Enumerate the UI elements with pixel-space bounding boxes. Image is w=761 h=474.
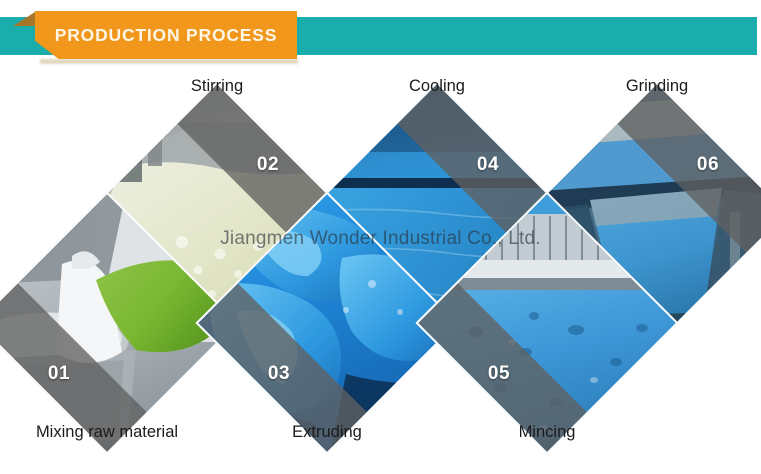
page-title: PRODUCTION PROCESS xyxy=(35,11,297,59)
step-label-03: Extruding xyxy=(237,423,417,442)
step-number-02: 02 xyxy=(257,154,279,176)
production-process-infographic: PRODUCTION PROCESS xyxy=(0,0,761,474)
ribbon-shadow xyxy=(40,59,298,64)
ribbon-tail xyxy=(13,12,35,26)
step-number-05: 05 xyxy=(488,363,510,385)
step-label-01: Mixing raw material xyxy=(17,423,197,442)
header-banner: PRODUCTION PROCESS xyxy=(0,0,761,68)
step-label-02: Stirring xyxy=(127,77,307,96)
step-label-06: Grinding xyxy=(567,77,747,96)
step-label-05: Mincing xyxy=(457,423,637,442)
step-number-01: 01 xyxy=(48,363,70,385)
step-label-04: Cooling xyxy=(347,77,527,96)
step-number-04: 04 xyxy=(477,154,499,176)
step-number-03: 03 xyxy=(268,363,290,385)
step-number-06: 06 xyxy=(697,154,719,176)
